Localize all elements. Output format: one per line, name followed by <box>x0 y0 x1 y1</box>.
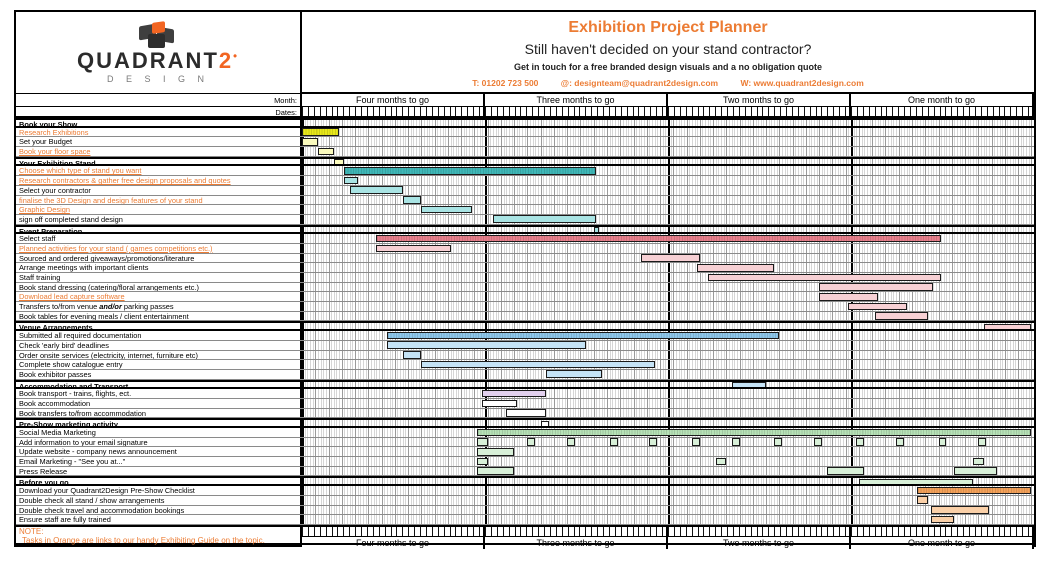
date-ticks-2 <box>485 107 668 118</box>
gantt-cells <box>302 447 1034 456</box>
table-row: Transfers to/from venue and/or parking p… <box>16 302 1034 312</box>
task-label: Download your Quadrant2Design Pre-Show C… <box>16 486 302 495</box>
gantt-bar[interactable] <box>567 438 575 446</box>
header-tagline: Get in touch for a free branded design v… <box>302 60 1034 75</box>
table-row: Submitted all required documentation <box>16 331 1034 341</box>
header-subtitle: Still haven't decided on your stand cont… <box>302 39 1034 60</box>
table-row: Staff training <box>16 273 1034 283</box>
gantt-bar[interactable] <box>477 438 488 446</box>
gantt-cells <box>302 360 1034 369</box>
task-label: Order onsite services (electricity, inte… <box>16 351 302 360</box>
table-row: Add information to your email signature <box>16 438 1034 448</box>
gantt-bar[interactable] <box>421 361 654 369</box>
gantt-bar[interactable] <box>403 351 422 359</box>
gantt-cells <box>302 382 1034 388</box>
task-label: Add information to your email signature <box>16 438 302 447</box>
table-row: Select staff <box>16 234 1034 244</box>
month-header-1: Four months to go <box>302 94 485 107</box>
section-row: Before you go <box>16 476 1034 486</box>
date-ticks-4 <box>851 107 1034 118</box>
gantt-bar[interactable] <box>387 332 780 340</box>
task-label: Arrange meetings with important clients <box>16 263 302 272</box>
table-row: Download your Quadrant2Design Pre-Show C… <box>16 486 1034 496</box>
task-rows-container: Book your ShowResearch ExhibitionsSet yo… <box>16 118 1034 544</box>
table-row: Book stand dressing (catering/floral arr… <box>16 283 1034 293</box>
task-label: Pre-Show marketing activity <box>16 420 302 426</box>
gantt-bar[interactable] <box>875 312 928 320</box>
task-label: Double check travel and accommodation bo… <box>16 506 302 515</box>
gantt-cells <box>302 331 1034 340</box>
gantt-bar[interactable] <box>716 458 727 466</box>
gantt-bar[interactable] <box>477 467 514 475</box>
task-link-label[interactable]: Research contractors & gather free desig… <box>16 176 302 185</box>
gantt-bar[interactable] <box>541 421 549 426</box>
gantt-bar[interactable] <box>403 196 422 204</box>
gantt-bar[interactable] <box>387 341 586 349</box>
gantt-cells <box>302 176 1034 185</box>
task-label: Set your Budget <box>16 137 302 146</box>
note-text: Tasks in Orange are links to our handy E… <box>19 536 300 546</box>
brand-name-main: QUADRANT <box>77 48 219 73</box>
gantt-bar[interactable] <box>649 438 657 446</box>
table-row: Book transport - trains, flights, ect. <box>16 389 1034 399</box>
task-label: Submitted all required documentation <box>16 331 302 340</box>
table-row: Research Exhibitions <box>16 128 1034 138</box>
contact-web[interactable]: W: www.quadrant2design.com <box>740 78 863 88</box>
section-row: Pre-Show marketing activity <box>16 418 1034 428</box>
gantt-bar[interactable] <box>931 516 955 524</box>
table-row: Download lead capture software <box>16 292 1034 302</box>
gantt-bar[interactable] <box>506 409 546 417</box>
gantt-bar[interactable] <box>302 138 318 146</box>
task-label: Event Preparation <box>16 227 302 233</box>
gantt-bar[interactable] <box>527 438 535 446</box>
task-label: Book exhibitor passes <box>16 370 302 379</box>
gantt-cells <box>302 420 1034 426</box>
task-label: Book transfers to/from accommodation <box>16 409 302 418</box>
contact-email[interactable]: @: designteam@quadrant2design.com <box>561 78 718 88</box>
gantt-cells <box>302 166 1034 175</box>
table-row: Order onsite services (electricity, inte… <box>16 351 1034 361</box>
gantt-cells <box>302 234 1034 243</box>
gantt-cells <box>302 120 1034 126</box>
header-block: Exhibition Project Planner Still haven't… <box>302 12 1034 94</box>
task-label: Email Marketing - "See you at..." <box>16 457 302 466</box>
table-row: Double check travel and accommodation bo… <box>16 506 1034 516</box>
task-link-label[interactable]: Planned activities for your stand ( game… <box>16 244 302 253</box>
gantt-bar[interactable] <box>376 245 450 253</box>
gantt-bar[interactable] <box>939 438 947 446</box>
task-label: Select your contractor <box>16 186 302 195</box>
gantt-bar[interactable] <box>344 177 357 185</box>
task-label: Book tables for evening meals / client e… <box>16 312 302 321</box>
task-label: Your Exhibition Stand <box>16 159 302 165</box>
task-link-label[interactable]: Choose which type of stand you want <box>16 166 302 175</box>
task-label: Select staff <box>16 234 302 243</box>
gantt-bar[interactable] <box>973 458 984 466</box>
gantt-cells <box>302 351 1034 360</box>
gantt-cells <box>302 147 1034 156</box>
table-row: Book exhibitor passes <box>16 370 1034 380</box>
task-label: Update website - company news announceme… <box>16 447 302 456</box>
brand-wordmark: QUADRANT2• <box>77 50 239 72</box>
gantt-bar[interactable] <box>334 159 345 164</box>
gantt-cells <box>302 409 1034 418</box>
table-row: Email Marketing - "See you at..." <box>16 457 1034 467</box>
gantt-bar[interactable] <box>302 128 339 136</box>
task-label: Social Media Marketing <box>16 428 302 437</box>
note-heading: NOTE: <box>19 527 300 536</box>
task-link-label[interactable]: Download lead capture software <box>16 292 302 301</box>
task-label: Double check all stand / show arrangemen… <box>16 496 302 505</box>
table-row: Select your contractor <box>16 186 1034 196</box>
gantt-cells <box>302 215 1034 224</box>
footer-right-spacer <box>302 525 1034 545</box>
table-row: Book your floor space <box>16 147 1034 157</box>
table-row: Graphic Design <box>16 205 1034 215</box>
gantt-cells <box>302 159 1034 165</box>
gantt-bar[interactable] <box>376 235 941 243</box>
gantt-cells <box>302 370 1034 379</box>
gantt-cells <box>302 428 1034 437</box>
gantt-cells <box>302 478 1034 484</box>
table-row: Update website - company news announceme… <box>16 447 1034 457</box>
month-axis-label: Month: <box>16 94 302 107</box>
table-row: Check 'early bird' deadlines <box>16 341 1034 351</box>
gantt-cells <box>302 515 1034 524</box>
gantt-bar[interactable] <box>917 487 1031 495</box>
gantt-bar[interactable] <box>594 227 599 232</box>
task-label: sign off completed stand design <box>16 215 302 224</box>
section-row: Event Preparation <box>16 225 1034 235</box>
table-row: Planned activities for your stand ( game… <box>16 244 1034 254</box>
gantt-bar[interactable] <box>344 167 596 175</box>
gantt-bar[interactable] <box>692 438 700 446</box>
gantt-cells <box>302 496 1034 505</box>
gantt-cells <box>302 506 1034 515</box>
table-row: Sourced and ordered giveaways/promotions… <box>16 254 1034 264</box>
brand-logo-cell: QUADRANT2• D E S I G N <box>16 12 302 94</box>
gantt-bar[interactable] <box>477 429 1031 437</box>
gantt-cells <box>302 227 1034 233</box>
gantt-bar[interactable] <box>827 467 864 475</box>
gantt-bar[interactable] <box>896 438 904 446</box>
gantt-cells <box>302 254 1034 263</box>
gantt-cells <box>302 186 1034 195</box>
task-label: Accommodation and Transport <box>16 382 302 388</box>
gantt-bar[interactable] <box>859 479 973 484</box>
section-row: Accommodation and Transport <box>16 380 1034 390</box>
gantt-bar[interactable] <box>732 438 740 446</box>
gantt-bar[interactable] <box>984 324 1032 329</box>
header-contact-row: T: 01202 723 500 @: designteam@quadrant2… <box>302 76 1034 91</box>
task-label: Ensure staff are fully trained <box>16 515 302 524</box>
gantt-cells <box>302 137 1034 146</box>
task-label: Venue Arrangements <box>16 323 302 329</box>
table-row: Book transfers to/from accommodation <box>16 409 1034 419</box>
gantt-bar[interactable] <box>318 148 334 156</box>
gantt-bar[interactable] <box>917 496 928 504</box>
task-label: Book your Show <box>16 120 302 126</box>
gantt-bar[interactable] <box>482 390 546 398</box>
task-label: Book accommodation <box>16 399 302 408</box>
gantt-bar[interactable] <box>814 438 822 446</box>
gantt-bar[interactable] <box>546 370 602 378</box>
table-row: Book accommodation <box>16 399 1034 409</box>
month-header-4: One month to go <box>851 94 1034 107</box>
gantt-bar[interactable] <box>732 382 766 387</box>
gantt-cells <box>302 389 1034 398</box>
gantt-bar[interactable] <box>477 448 514 456</box>
table-row: Social Media Marketing <box>16 428 1034 438</box>
table-row: finalise the 3D Design and design featur… <box>16 196 1034 206</box>
gantt-cells <box>302 205 1034 214</box>
table-row: Complete show catalogue entry <box>16 360 1034 370</box>
gantt-cells <box>302 283 1034 292</box>
gantt-bar[interactable] <box>978 438 986 446</box>
gantt-cells <box>302 128 1034 137</box>
section-row: Your Exhibition Stand <box>16 157 1034 167</box>
gantt-bar[interactable] <box>493 215 596 223</box>
table-row: sign off completed stand design <box>16 215 1034 225</box>
table-row: Ensure staff are fully trained <box>16 515 1034 525</box>
table-row: Book tables for evening meals / client e… <box>16 312 1034 322</box>
gantt-bar[interactable] <box>774 438 782 446</box>
gantt-cells <box>302 467 1034 476</box>
brand-subtitle: D E S I G N <box>107 74 209 84</box>
gantt-cells <box>302 292 1034 301</box>
task-label: Book stand dressing (catering/floral arr… <box>16 283 302 292</box>
gantt-bar[interactable] <box>954 467 996 475</box>
task-label: Complete show catalogue entry <box>16 360 302 369</box>
table-row: Set your Budget <box>16 137 1034 147</box>
gantt-cells <box>302 323 1034 329</box>
contact-phone: T: 01202 723 500 <box>472 78 538 88</box>
gantt-bar[interactable] <box>482 400 516 408</box>
gantt-bar[interactable] <box>856 438 864 446</box>
gantt-bar[interactable] <box>610 438 618 446</box>
task-link-label[interactable]: Book your floor space <box>16 147 302 156</box>
gantt-bar[interactable] <box>848 303 906 311</box>
section-row: Book your Show <box>16 118 1034 128</box>
gantt-bar[interactable] <box>819 283 933 291</box>
table-row: Choose which type of stand you want <box>16 166 1034 176</box>
brand-name-accent: 2 <box>219 48 233 73</box>
gantt-cells <box>302 486 1034 495</box>
gantt-bar[interactable] <box>350 186 403 194</box>
table-row: Research contractors & gather free desig… <box>16 176 1034 186</box>
gantt-bar[interactable] <box>708 274 941 282</box>
gantt-bar[interactable] <box>477 458 488 466</box>
gantt-cells <box>302 341 1034 350</box>
gantt-cells <box>302 399 1034 408</box>
gantt-bar[interactable] <box>819 293 877 301</box>
task-label: Transfers to/from venue and/or parking p… <box>16 302 302 311</box>
gantt-cells <box>302 312 1034 321</box>
section-row: Venue Arrangements <box>16 321 1034 331</box>
gantt-bar[interactable] <box>697 264 774 272</box>
task-link-label[interactable]: Graphic Design <box>16 205 302 214</box>
dates-axis-label: Dates: <box>16 107 302 118</box>
gantt-cells <box>302 438 1034 447</box>
task-label: Book transport - trains, flights, ect. <box>16 389 302 398</box>
task-label: Check 'early bird' deadlines <box>16 341 302 350</box>
gantt-cells <box>302 457 1034 466</box>
task-link-label[interactable]: finalise the 3D Design and design featur… <box>16 196 302 205</box>
gantt-bar[interactable] <box>931 506 989 514</box>
note-block: NOTE: Tasks in Orange are links to our h… <box>16 525 302 545</box>
quadrant-cubes-icon <box>135 22 181 48</box>
date-ticks-1 <box>302 107 485 118</box>
month-header-3: Two months to go <box>668 94 851 107</box>
gantt-cells <box>302 196 1034 205</box>
gantt-cells <box>302 273 1034 282</box>
exhibition-project-planner-page: QUADRANT2• D E S I G N Exhibition Projec… <box>0 0 1050 571</box>
month-header-2: Three months to go <box>485 94 668 107</box>
table-row: Press Release <box>16 467 1034 477</box>
task-label: Staff training <box>16 273 302 282</box>
table-row: Arrange meetings with important clients <box>16 263 1034 273</box>
task-label: Sourced and ordered giveaways/promotions… <box>16 254 302 263</box>
task-link-label[interactable]: Research Exhibitions <box>16 128 302 137</box>
gantt-bar[interactable] <box>421 206 471 214</box>
task-label: Press Release <box>16 467 302 476</box>
gantt-cells <box>302 263 1034 272</box>
gantt-cells <box>302 244 1034 253</box>
gantt-bar[interactable] <box>641 254 699 262</box>
page-title: Exhibition Project Planner <box>302 17 1034 39</box>
date-ticks-3 <box>668 107 851 118</box>
gantt-cells <box>302 302 1034 311</box>
table-row: Double check all stand / show arrangemen… <box>16 496 1034 506</box>
task-label: Before you go <box>16 478 302 484</box>
